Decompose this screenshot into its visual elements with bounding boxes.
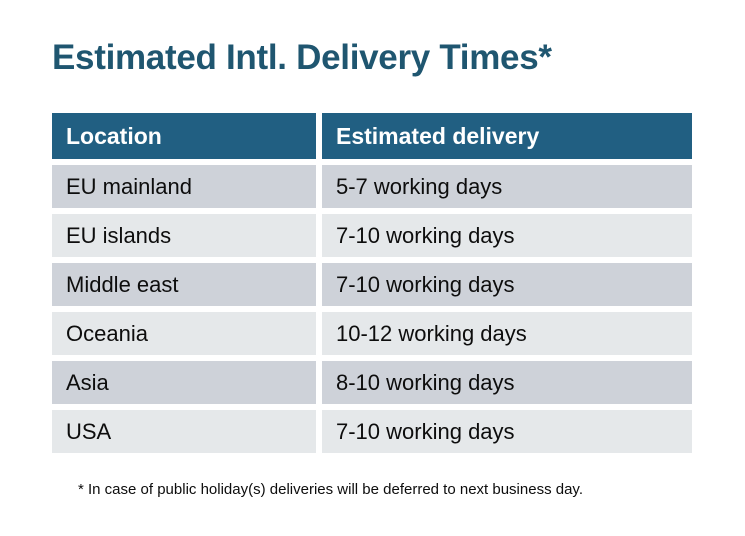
cell-location: Oceania	[52, 312, 316, 355]
cell-estimated-delivery: 10-12 working days	[322, 312, 692, 355]
table-row: Middle east 7-10 working days	[52, 263, 692, 306]
cell-estimated-delivery: 7-10 working days	[322, 263, 692, 306]
column-header-location: Location	[52, 113, 316, 159]
cell-location: USA	[52, 410, 316, 453]
footnote-holiday-notice: * In case of public holiday(s) deliverie…	[78, 480, 583, 500]
table-row: EU mainland 5-7 working days	[52, 165, 692, 208]
page-title: Estimated Intl. Delivery Times*	[52, 36, 552, 80]
table-row: Oceania 10-12 working days	[52, 312, 692, 355]
cell-estimated-delivery: 7-10 working days	[322, 410, 692, 453]
cell-location: Asia	[52, 361, 316, 404]
cell-estimated-delivery: 7-10 working days	[322, 214, 692, 257]
delivery-times-page: Estimated Intl. Delivery Times* Location…	[0, 0, 745, 536]
estimated-delivery-table: Location Estimated delivery EU mainland …	[52, 113, 692, 453]
table-row: USA 7-10 working days	[52, 410, 692, 453]
cell-location: EU mainland	[52, 165, 316, 208]
table-row: Asia 8-10 working days	[52, 361, 692, 404]
table-header-row: Location Estimated delivery	[52, 113, 692, 159]
cell-estimated-delivery: 8-10 working days	[322, 361, 692, 404]
table-row: EU islands 7-10 working days	[52, 214, 692, 257]
cell-location: EU islands	[52, 214, 316, 257]
cell-estimated-delivery: 5-7 working days	[322, 165, 692, 208]
cell-location: Middle east	[52, 263, 316, 306]
column-header-estimated-delivery: Estimated delivery	[322, 113, 692, 159]
